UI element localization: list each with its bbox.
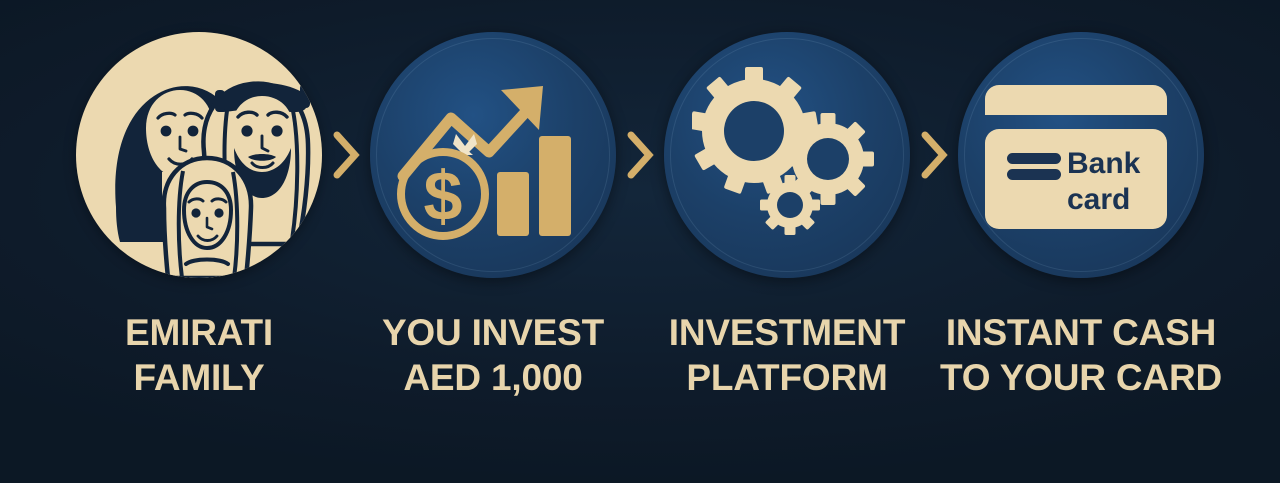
svg-text:$: $ [424, 157, 463, 235]
growth-chart-money-icon: $ [370, 32, 616, 278]
step-separator-2 [617, 25, 663, 285]
steps-label-row: EMIRATI FAMILY YOU INVEST AED 1,000 INVE… [0, 310, 1280, 430]
infographic-canvas: $ [0, 0, 1280, 483]
step-3-icon-wrap [663, 25, 911, 285]
bank-card-icon: Bank card [958, 32, 1204, 278]
card-label-line1: Bank [1067, 147, 1141, 180]
chevron-right-icon [626, 131, 654, 179]
step-2-label: YOU INVEST AED 1,000 [369, 310, 617, 400]
step-1-icon-wrap [75, 25, 323, 285]
chevron-right-icon [332, 131, 360, 179]
step-2-icon-wrap: $ [369, 25, 617, 285]
step-separator-3 [911, 25, 957, 285]
step-separator-1 [323, 25, 369, 285]
gears-icon [664, 32, 910, 278]
step-3-label: INVESTMENT PLATFORM [642, 310, 932, 400]
chevron-right-icon [920, 131, 948, 179]
steps-icon-row: $ [0, 0, 1280, 310]
emirati-family-icon [76, 32, 322, 278]
step-4-icon-wrap: Bank card [957, 25, 1205, 285]
step-1-label: EMIRATI FAMILY [75, 310, 323, 400]
step-4-label: INSTANT CASH TO YOUR CARD [936, 310, 1226, 400]
card-label-line2: card [1067, 183, 1130, 216]
